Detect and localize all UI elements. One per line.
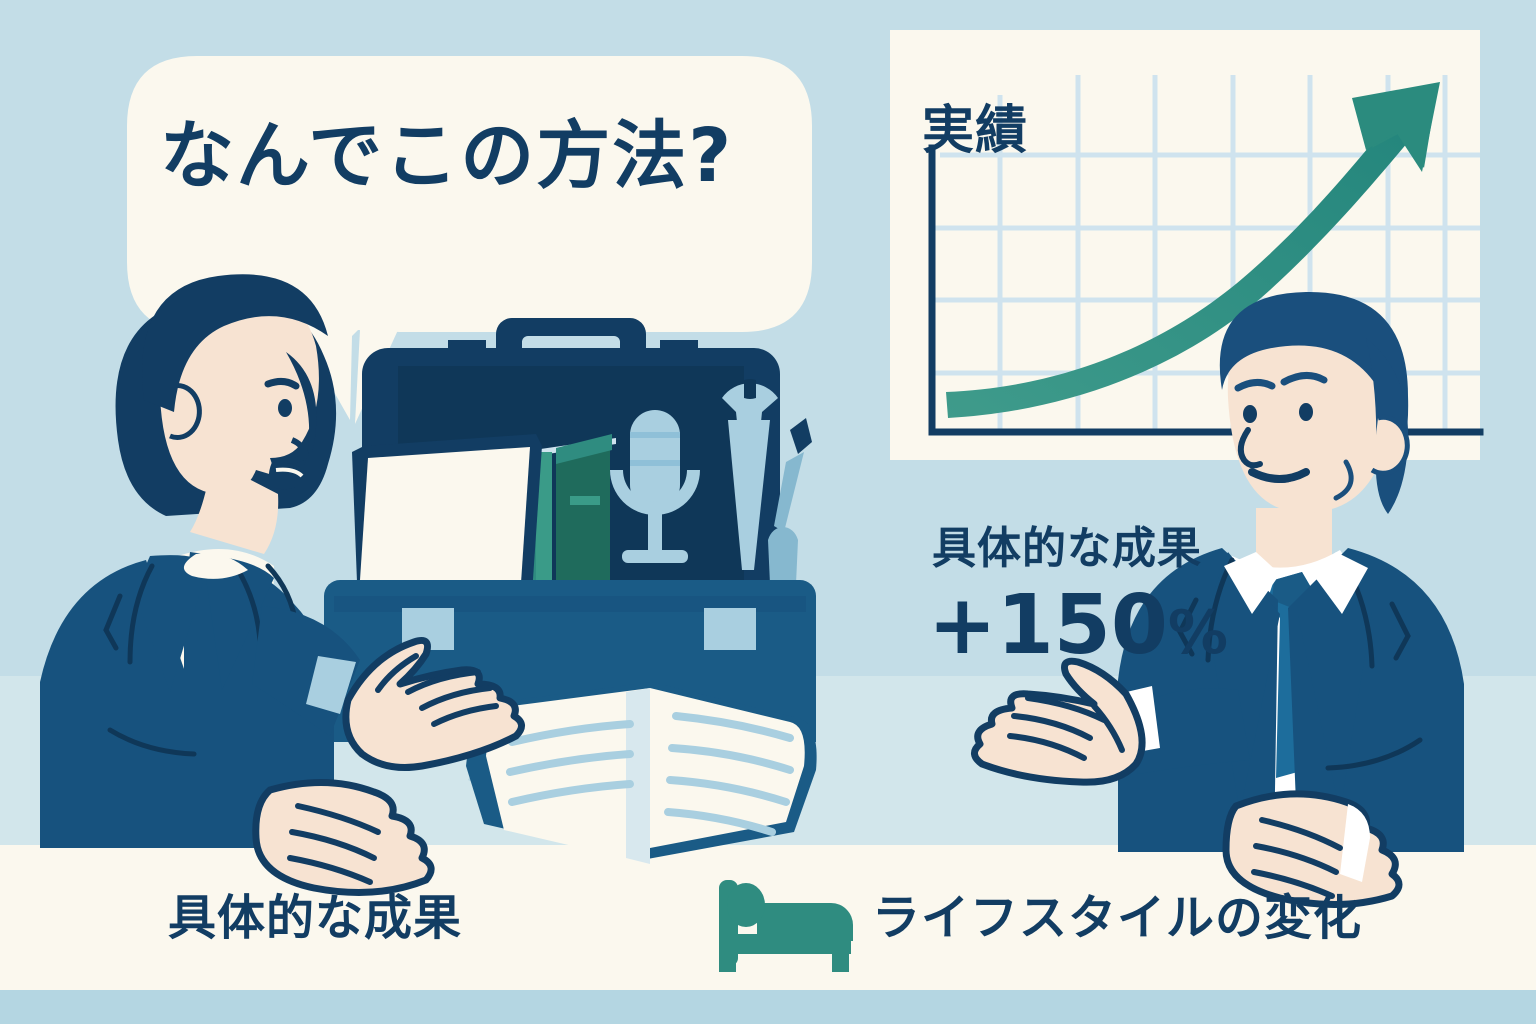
result-number: +150	[928, 578, 1168, 673]
caption-right: ライフスタイルの変化	[872, 878, 1362, 948]
speech-bubble-text: なんでこの方法?	[160, 96, 733, 203]
caption-left: 具体的な成果	[168, 878, 462, 948]
illustration-canvas: なんでこの方法? 実績 具体的な成果 +150% 具体的な成果 ライフスタイルの…	[0, 0, 1536, 1024]
chart-title: 実績	[922, 88, 1028, 163]
result-label: 具体的な成果	[932, 512, 1202, 576]
result-value: +150%	[928, 578, 1228, 673]
result-unit: %	[1168, 598, 1228, 668]
